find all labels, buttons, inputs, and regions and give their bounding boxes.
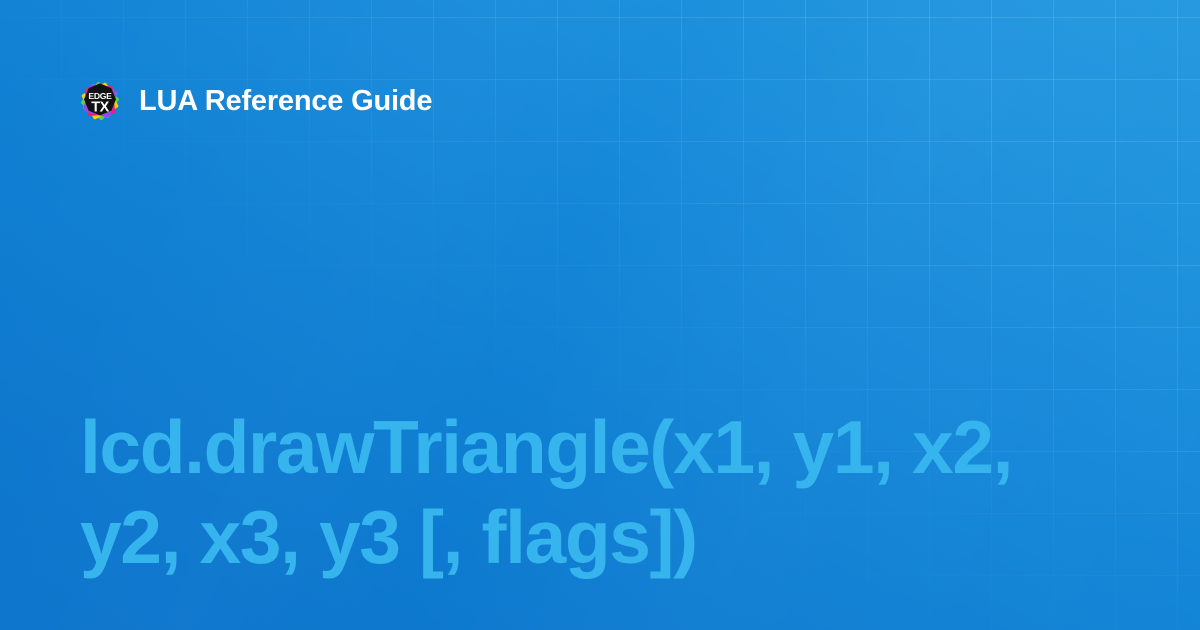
header: EDGE TX LUA Reference Guide	[78, 79, 432, 123]
edgetx-logo-icon: EDGE TX	[78, 79, 122, 123]
svg-text:TX: TX	[91, 99, 109, 115]
brand-title: LUA Reference Guide	[139, 87, 432, 116]
page-title: lcd.drawTriangle(x1, y1, x2, y2, x3, y3 …	[80, 402, 1120, 582]
og-card: EDGE TX LUA Reference Guide lcd.drawTria…	[0, 0, 1200, 630]
